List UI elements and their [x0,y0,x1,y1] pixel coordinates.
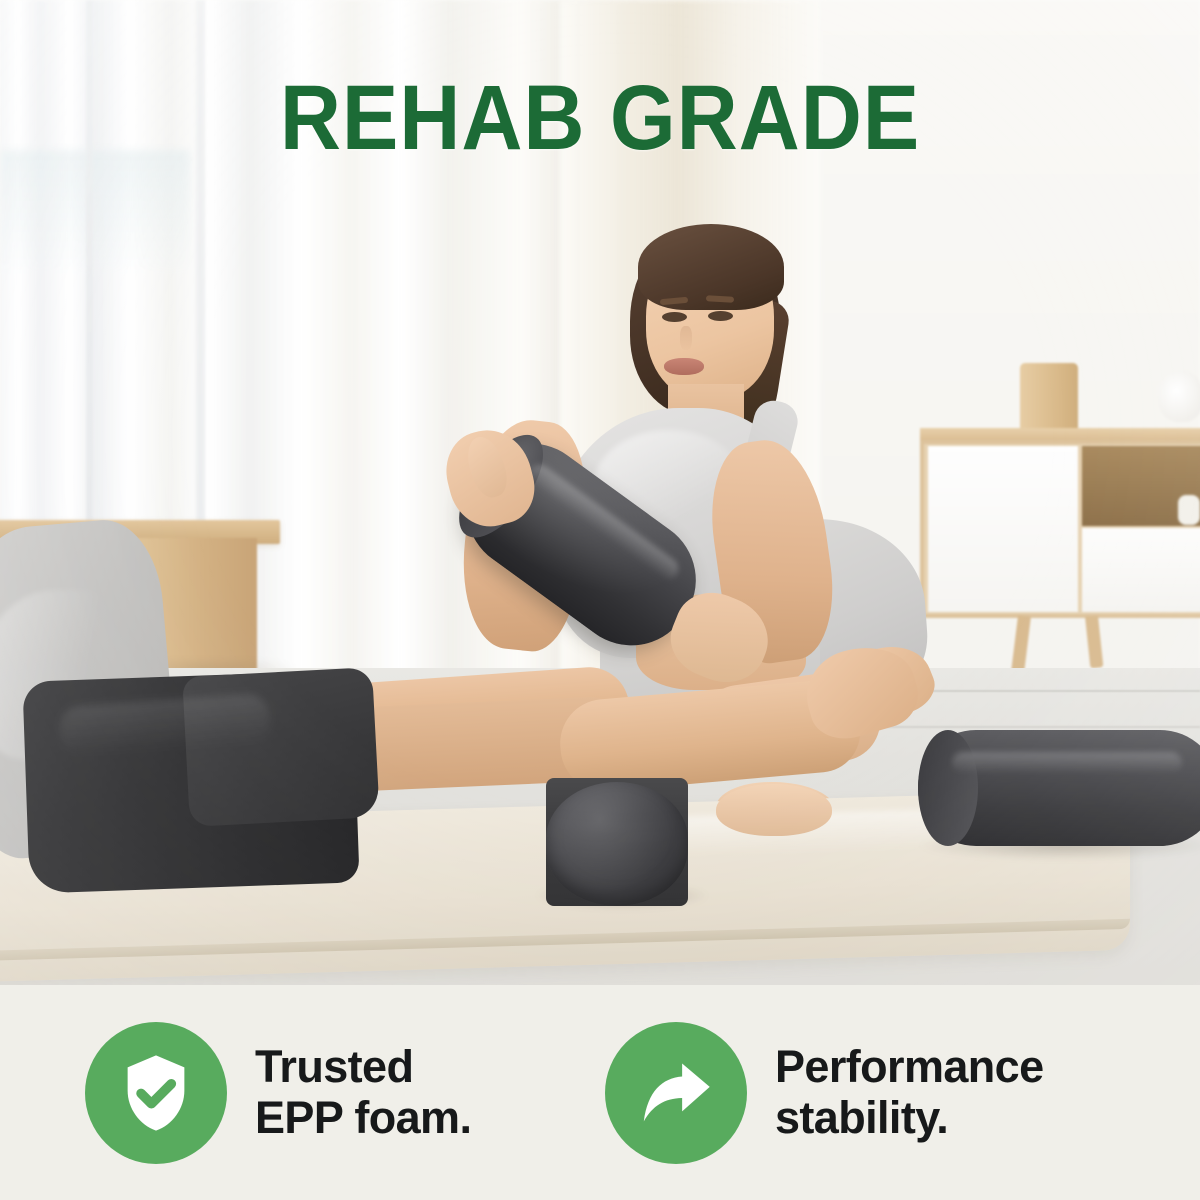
eye-left [662,312,687,322]
sideboard-door-right [1082,528,1200,612]
heel [716,784,832,836]
roller-end-cap [918,730,978,846]
product-marketing-card: REHAB GRADE Trusted EPP foam. Perf [0,0,1200,1200]
shorts-hem [182,667,380,827]
shield-check-icon [85,1022,227,1164]
lips [664,358,704,375]
feature-line-1: Performance [775,1042,1044,1092]
feature-bar: Trusted EPP foam. Performance stability. [0,985,1200,1200]
page-title: REHAB GRADE [48,72,1152,164]
feature-label: Trusted EPP foam. [255,1042,471,1143]
feature-label: Performance stability. [775,1042,1044,1143]
shelf-object [1178,495,1200,525]
sideboard-door-left [928,446,1078,612]
feature-trusted-epp-foam: Trusted EPP foam. [0,985,600,1200]
feature-line-1: Trusted [255,1042,471,1092]
roller-end-cap [546,782,688,906]
feature-line-2: stability. [775,1093,1044,1143]
nose [680,326,692,350]
roller-highlight [952,752,1182,774]
eye-right [708,311,733,321]
vase-decor [1158,370,1200,422]
feature-performance-stability: Performance stability. [600,985,1200,1200]
wood-block-decor [1020,363,1078,429]
window-glass [0,150,190,270]
feature-line-2: EPP foam. [255,1093,471,1143]
forward-arrow-icon [605,1022,747,1164]
